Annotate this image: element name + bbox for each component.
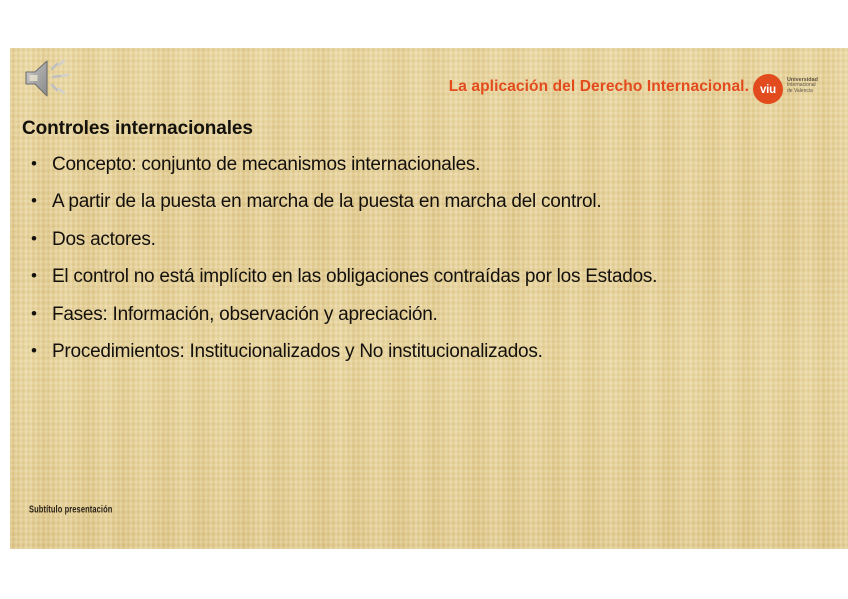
bullet-marker-icon: • [31, 266, 37, 286]
bullet-marker-icon: • [31, 341, 37, 361]
bullet-text: El control no está implícito en las obli… [52, 266, 657, 287]
bullet-text: Procedimientos: Institucionalizados y No… [52, 341, 543, 362]
bullet-marker-icon: • [31, 154, 37, 174]
logo-wordmark-line-3: de Valencia [787, 89, 843, 95]
bullet-item: • Dos actores. [22, 229, 834, 251]
logo-mark-text: viu [753, 74, 783, 104]
bullet-item: • A partir de la puesta en marcha de la … [22, 191, 834, 213]
bullet-item: • Procedimientos: Institucionalizados y … [22, 341, 834, 363]
viu-logo[interactable]: viu Universidad Internacional de Valenci… [753, 74, 845, 106]
bullet-marker-icon: • [31, 191, 37, 211]
bullet-marker-icon: • [31, 304, 37, 324]
bullet-text: Fases: Información, observación y apreci… [52, 304, 438, 325]
bullet-text: Concepto: conjunto de mecanismos interna… [52, 154, 480, 175]
footer-subtitle: Subtítulo presentación [29, 503, 112, 515]
bullet-item: • Fases: Información, observación y apre… [22, 304, 834, 326]
presentation-slide: La aplicación del Derecho Internacional.… [10, 48, 848, 549]
bullet-item: • Concepto: conjunto de mecanismos inter… [22, 154, 834, 176]
header-title: La aplicación del Derecho Internacional. [449, 78, 749, 96]
bullet-text: A partir de la puesta en marcha de la pu… [52, 191, 601, 212]
bullet-marker-icon: • [31, 229, 37, 249]
viu-logo-mark: viu [753, 74, 783, 104]
bullet-list: • Concepto: conjunto de mecanismos inter… [22, 154, 834, 378]
bullet-text: Dos actores. [52, 229, 156, 250]
logo-wordmark: Universidad Internacional de Valencia [787, 77, 843, 94]
slide-title: Controles internacionales [22, 118, 253, 140]
slide-header: La aplicación del Derecho Internacional.… [10, 48, 848, 100]
page-canvas: La aplicación del Derecho Internacional.… [0, 0, 848, 599]
bullet-item: • El control no está implícito en las ob… [22, 266, 834, 288]
speaker-icon[interactable] [22, 56, 74, 100]
